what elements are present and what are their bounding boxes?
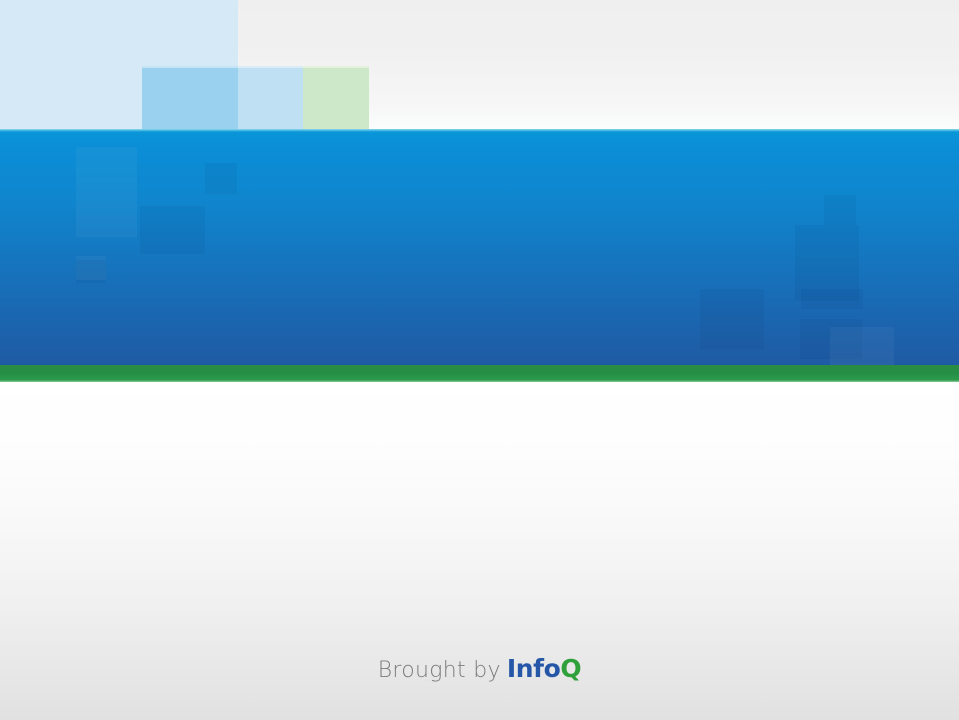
- decor-square-blue: [142, 66, 238, 129]
- top-decorative-band: [0, 0, 959, 129]
- decor-top-edge-highlight: [142, 66, 369, 68]
- slide-title: Q&A: [0, 344, 959, 365]
- decor-square-green: [303, 66, 369, 129]
- footer-brought-by-label: Brought by: [378, 658, 501, 683]
- banner-decor-square-3: [140, 206, 205, 254]
- banner-decor-square-1: [76, 147, 137, 195]
- infoq-logo-q-text: Q: [560, 654, 581, 683]
- banner-top-highlight-line: [0, 129, 959, 132]
- title-banner: Q&A: [0, 129, 959, 365]
- banner-decor-square-8: [795, 225, 859, 273]
- banner-decor-square-2: [76, 195, 137, 237]
- banner-decor-square-4: [205, 163, 237, 194]
- presentation-slide: Q&A Brought byInfoQ: [0, 0, 959, 720]
- footer-branding: Brought byInfoQ: [0, 654, 959, 688]
- banner-decor-square-10: [801, 289, 863, 309]
- decor-square-light-blue: [238, 66, 303, 129]
- banner-decor-square-7: [824, 195, 856, 225]
- infoq-logo-info-text: Info: [507, 654, 561, 683]
- green-divider-bar: [0, 365, 959, 382]
- banner-decor-square-6: [76, 260, 106, 283]
- banner-decor-square-12: [700, 289, 764, 349]
